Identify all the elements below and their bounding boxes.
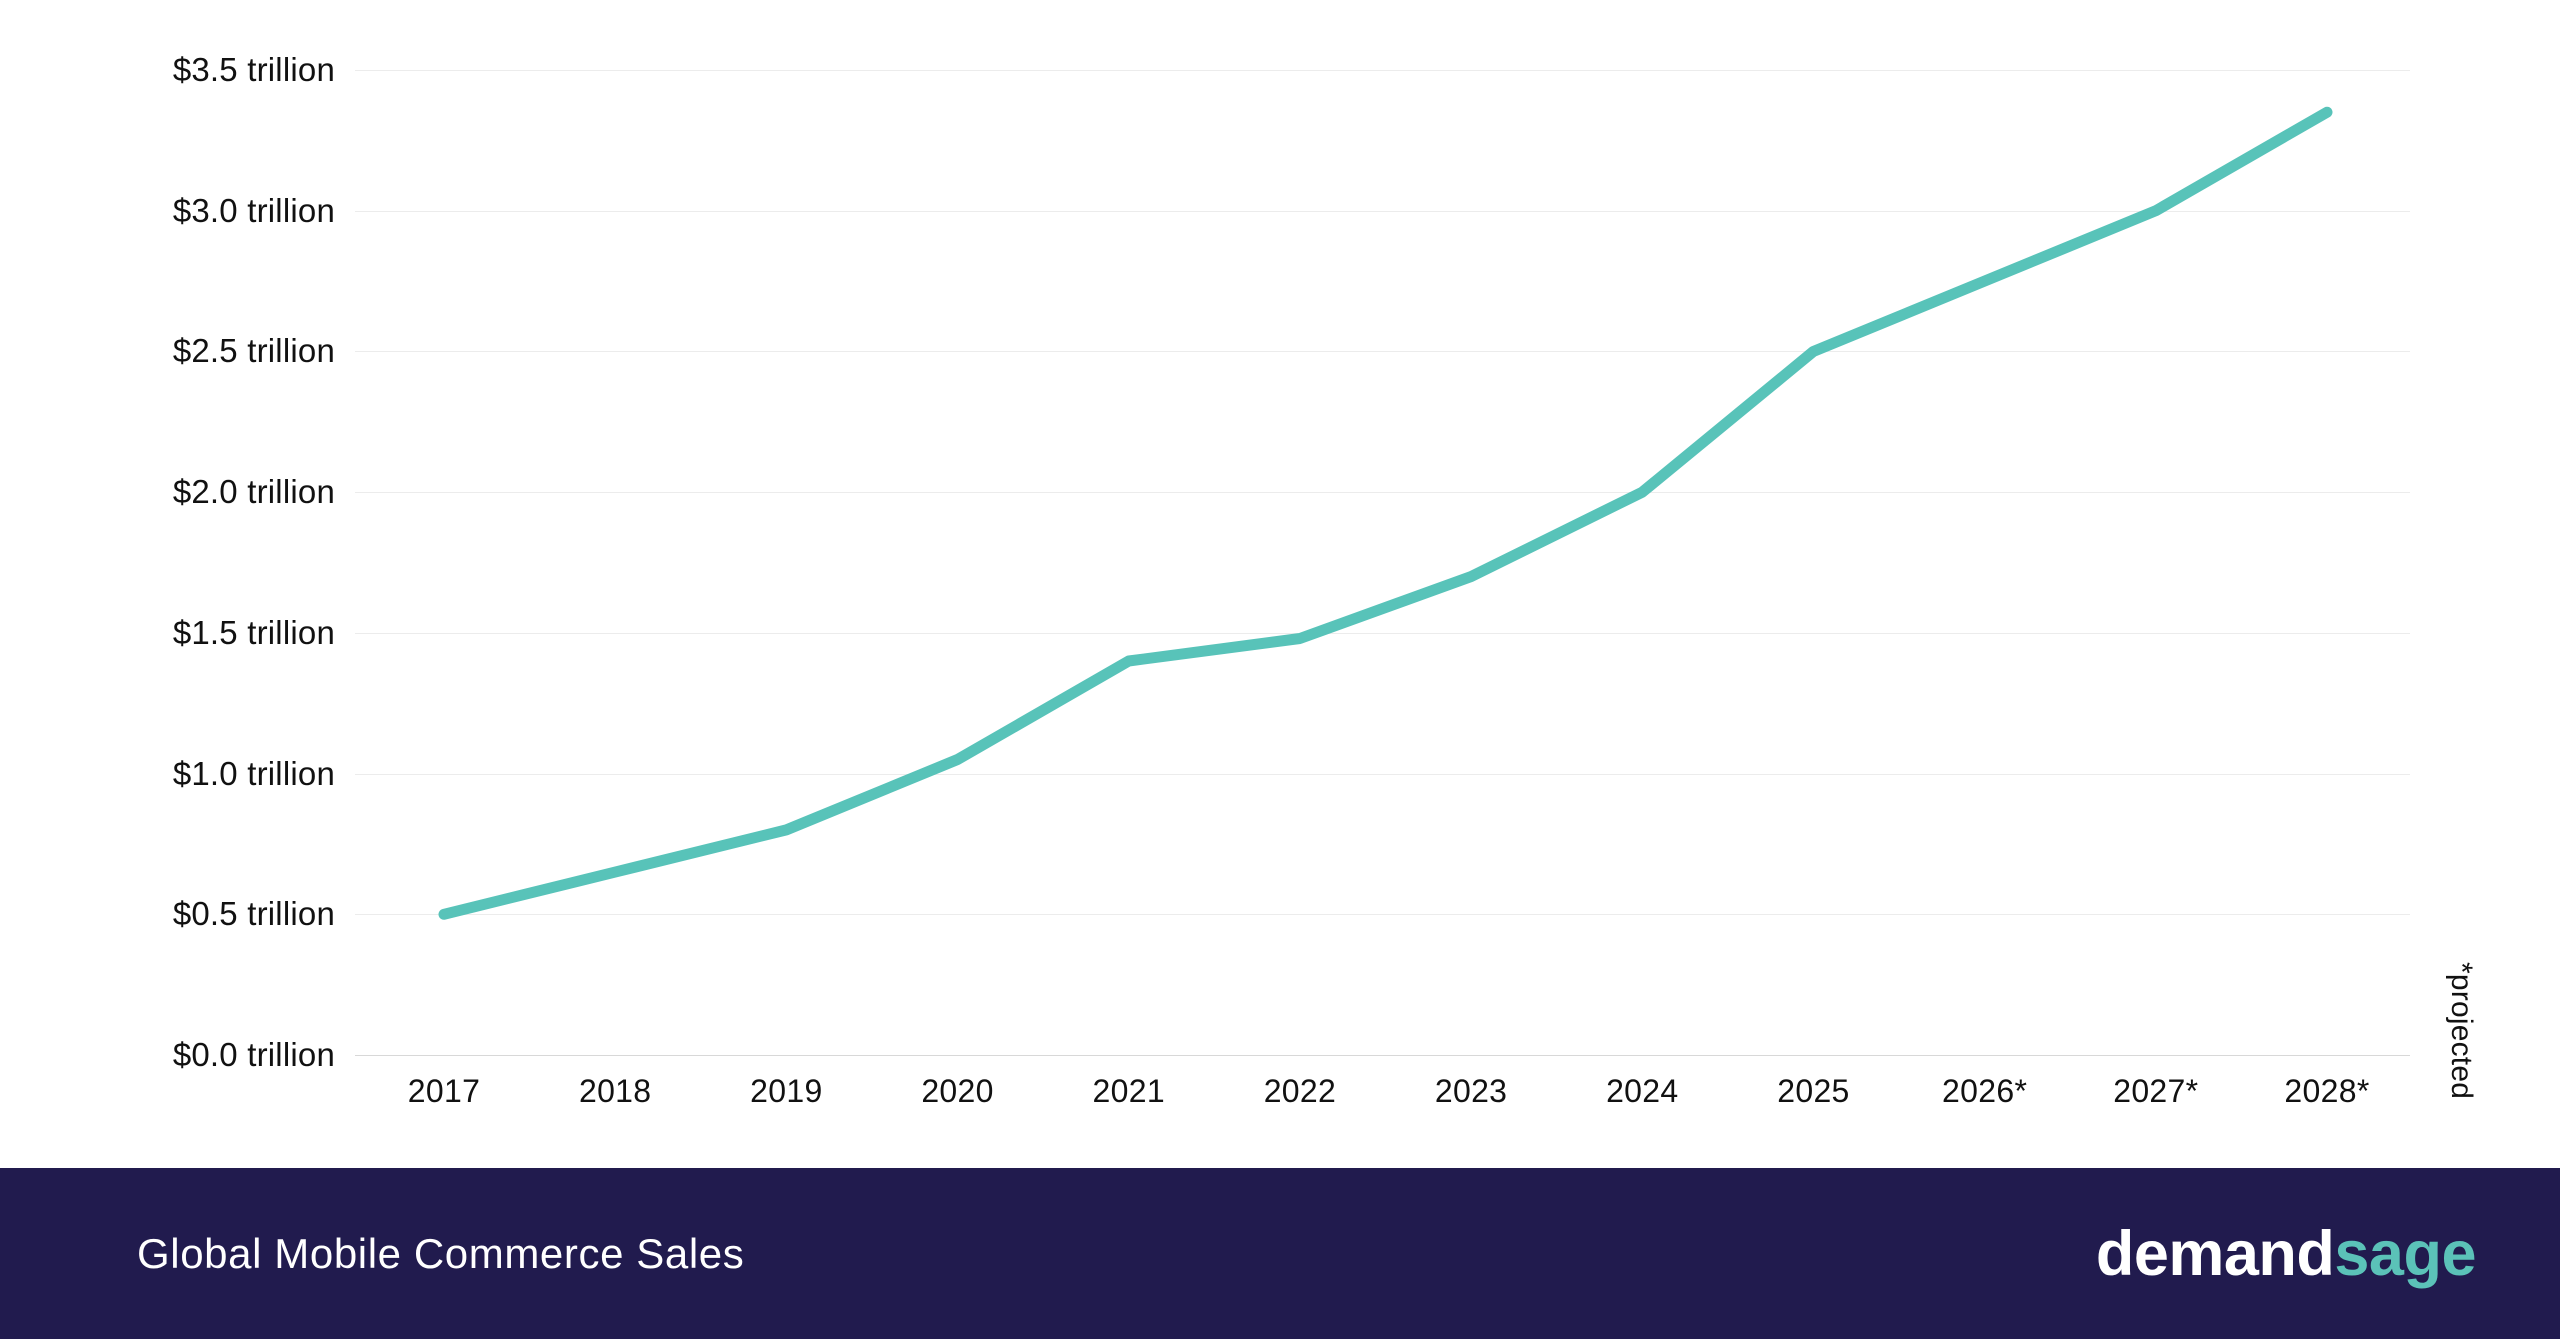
line-series-svg: [0, 0, 2560, 1168]
projected-footnote: *projected: [2444, 962, 2478, 1099]
gridline: [355, 351, 2410, 352]
gridline: [355, 633, 2410, 634]
plot-area: $3.5 trillion$3.0 trillion$2.5 trillion$…: [0, 0, 2560, 1168]
gridline: [355, 211, 2410, 212]
footer-bar: Global Mobile Commerce Sales demandsage: [0, 1168, 2560, 1339]
gridline: [355, 1055, 2410, 1056]
x-axis-tick-label: 2027*: [2113, 1073, 2198, 1110]
gridline: [355, 774, 2410, 775]
y-axis-tick-label: $2.0 trillion: [0, 473, 335, 511]
x-axis-tick-label: 2022: [1264, 1073, 1336, 1110]
x-axis-tick-label: 2020: [921, 1073, 993, 1110]
demandsage-logo: demandsage: [2096, 1218, 2476, 1290]
y-axis-tick-label: $1.0 trillion: [0, 755, 335, 793]
y-axis-tick-label: $3.0 trillion: [0, 192, 335, 230]
x-axis-tick-label: 2018: [579, 1073, 651, 1110]
y-axis-tick-label: $3.5 trillion: [0, 51, 335, 89]
x-axis-tick-label: 2019: [750, 1073, 822, 1110]
x-axis-tick-label: 2017: [408, 1073, 480, 1110]
page-title: Global Mobile Commerce Sales: [137, 1230, 744, 1278]
gridline: [355, 70, 2410, 71]
y-axis-tick-label: $0.5 trillion: [0, 895, 335, 933]
x-axis-tick-label: 2026*: [1942, 1073, 2027, 1110]
x-axis-tick-label: 2025: [1777, 1073, 1849, 1110]
x-axis-tick-label: 2028*: [2284, 1073, 2369, 1110]
chart-canvas: $3.5 trillion$3.0 trillion$2.5 trillion$…: [0, 0, 2560, 1168]
y-axis-tick-label: $1.5 trillion: [0, 614, 335, 652]
logo-text-demand: demand: [2096, 1219, 2335, 1289]
logo-text-sage: sage: [2334, 1219, 2476, 1289]
gridline: [355, 492, 2410, 493]
y-axis-tick-label: $0.0 trillion: [0, 1036, 335, 1074]
line-series-path: [444, 112, 2327, 914]
x-axis-tick-label: 2024: [1606, 1073, 1678, 1110]
gridline: [355, 914, 2410, 915]
x-axis-tick-label: 2023: [1435, 1073, 1507, 1110]
x-axis-tick-label: 2021: [1093, 1073, 1165, 1110]
y-axis-tick-label: $2.5 trillion: [0, 332, 335, 370]
